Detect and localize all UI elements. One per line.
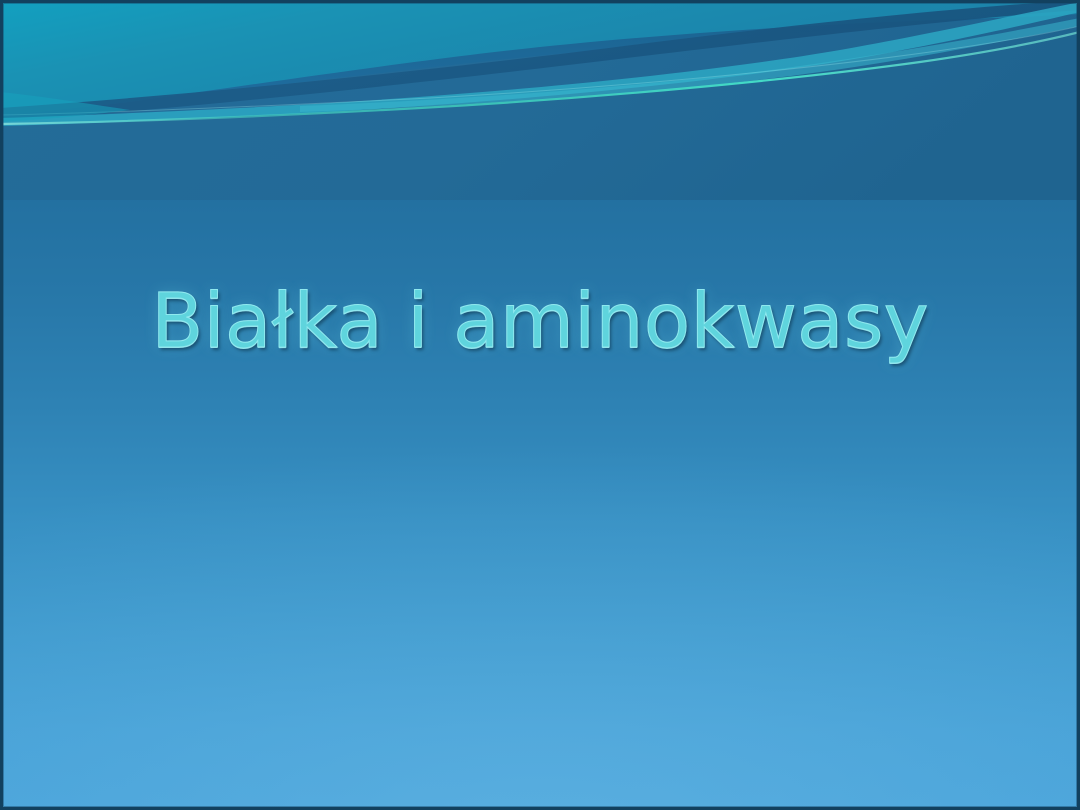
slide-canvas: Białka i aminokwasy: [0, 0, 1080, 810]
title-placeholder: Białka i aminokwasy: [0, 276, 1080, 366]
page-title: Białka i aminokwasy: [151, 276, 929, 366]
bottom-glow-decoration: [0, 0, 1080, 810]
